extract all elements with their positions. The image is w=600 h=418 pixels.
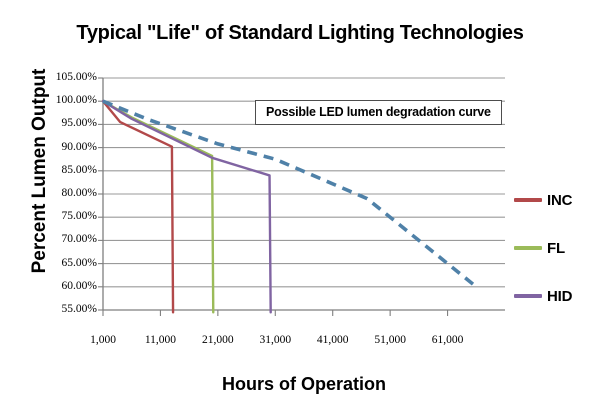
y-tick-label: 85.00% — [27, 165, 97, 177]
chart-container: Typical "Life" of Standard Lighting Tech… — [0, 0, 600, 418]
legend-swatch-fl — [514, 246, 542, 250]
y-tick-label: 100.00% — [27, 95, 97, 107]
legend-label-hid: HID — [547, 288, 572, 305]
y-tick-label: 95.00% — [27, 118, 97, 130]
y-tick-label: 80.00% — [27, 188, 97, 200]
y-tick-label: 90.00% — [27, 142, 97, 154]
legend-swatch-inc — [514, 198, 542, 202]
legend-item[interactable]: FL — [514, 224, 600, 272]
y-tick-label: 75.00% — [27, 211, 97, 223]
y-tick-label: 70.00% — [27, 234, 97, 246]
legend-swatch-hid — [514, 294, 542, 298]
x-axis-title: Hours of Operation — [103, 374, 505, 395]
legend-item[interactable]: HID — [514, 272, 600, 320]
y-tick-label: 55.00% — [27, 304, 97, 316]
y-tick-label: 65.00% — [27, 258, 97, 270]
data-series-group — [103, 101, 476, 312]
y-tick-label: 60.00% — [27, 281, 97, 293]
led-callout-annotation: Possible LED lumen degradation curve — [255, 100, 502, 125]
legend-label-fl: FL — [547, 240, 565, 257]
chart-title: Typical "Life" of Standard Lighting Tech… — [60, 22, 540, 45]
y-tick-label: 105.00% — [27, 72, 97, 84]
x-tick-label: 61,000 — [413, 334, 483, 346]
legend-item[interactable]: INC — [514, 176, 600, 224]
chart-legend: INC FL HID — [514, 176, 600, 320]
legend-label-inc: INC — [547, 192, 572, 209]
